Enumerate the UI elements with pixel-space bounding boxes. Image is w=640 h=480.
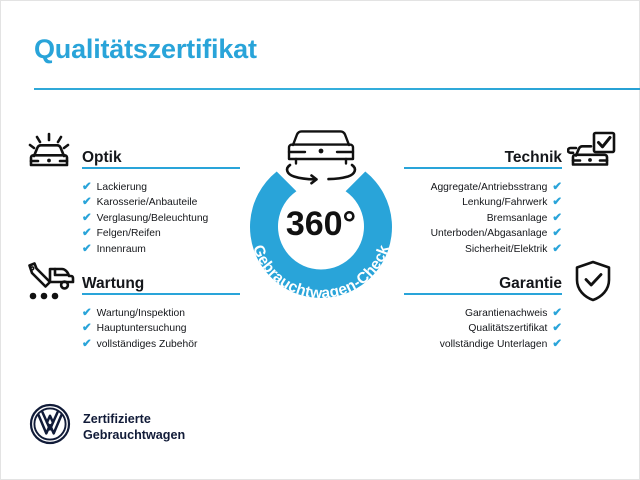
car-checkbox-icon: [567, 131, 617, 178]
section-header-wartung: Wartung: [82, 269, 240, 295]
list-item-label: Bremsanlage: [487, 211, 548, 226]
list-item-label: Lackierung: [97, 180, 147, 195]
list-item: ✔Felgen/Reifen: [82, 226, 240, 241]
footer-text: Zertifizierte Gebrauchtwagen: [83, 411, 185, 443]
list-item-label: Qualitätszertifikat: [468, 321, 547, 336]
page-title: Qualitätszertifikat: [34, 34, 257, 65]
shield-check-icon: [573, 259, 613, 308]
list-item-label: Innenraum: [97, 242, 146, 257]
check-icon: ✔: [552, 228, 562, 240]
list-item: ✔vollständiges Zubehör: [82, 337, 240, 352]
section-divider-garantie: [404, 293, 562, 295]
footer-brand: Zertifizierte Gebrauchtwagen: [29, 403, 185, 450]
list-item-label: Wartung/Inspektion: [97, 306, 185, 321]
section-header-garantie: Garantie: [404, 269, 562, 295]
vw-logo-icon: [29, 403, 71, 450]
check-icon: ✔: [82, 213, 92, 225]
section-garantie: Garantie Garantienachweis✔ Qualitätszert…: [404, 269, 562, 368]
car-wrench-icon: [23, 259, 75, 310]
checklist-optik: ✔Lackierung ✔Karosserie/Anbauteile ✔Verg…: [82, 180, 240, 257]
section-divider-technik: [404, 167, 562, 169]
list-item-label: Lenkung/Fahrwerk: [462, 195, 547, 210]
list-item-label: Felgen/Reifen: [97, 226, 161, 241]
section-title-optik: Optik: [82, 149, 122, 167]
check-icon: ✔: [82, 182, 92, 194]
list-item: ✔Innenraum: [82, 242, 240, 257]
list-item-label: Aggregate/Antriebsstrang: [431, 180, 548, 195]
check-icon: ✔: [82, 244, 92, 256]
list-item: ✔Karosserie/Anbauteile: [82, 195, 240, 210]
checklist-wartung: ✔Wartung/Inspektion ✔Hauptuntersuchung ✔…: [82, 306, 240, 352]
list-item: ✔Verglasung/Beleuchtung: [82, 211, 240, 226]
list-item: Bremsanlage✔: [404, 211, 562, 226]
section-wartung: Wartung ✔Wartung/Inspektion ✔Hauptunters…: [82, 269, 240, 368]
badge-360: Gebrauchtwagen-Check 360°: [233, 119, 409, 315]
check-icon: ✔: [82, 228, 92, 240]
check-icon: ✔: [82, 308, 92, 320]
section-title-garantie: Garantie: [499, 275, 562, 293]
list-item: vollständige Unterlagen✔: [404, 337, 562, 352]
list-item-label: vollständiges Zubehör: [97, 337, 198, 352]
list-item: ✔Lackierung: [82, 180, 240, 195]
section-technik: Technik Aggregate/Antriebsstrang✔ Lenkun…: [404, 143, 562, 273]
check-icon: ✔: [552, 323, 562, 335]
list-item-label: Verglasung/Beleuchtung: [97, 211, 209, 226]
list-item-label: vollständige Unterlagen: [440, 337, 548, 352]
section-divider-wartung: [82, 293, 240, 295]
check-icon: ✔: [82, 197, 92, 209]
checklist-garantie: Garantienachweis✔ Qualitätszertifikat✔ v…: [404, 306, 562, 352]
check-icon: ✔: [552, 308, 562, 320]
list-item: ✔Hauptuntersuchung: [82, 321, 240, 336]
list-item-label: Sicherheit/Elektrik: [465, 242, 547, 257]
check-icon: ✔: [552, 339, 562, 351]
section-title-wartung: Wartung: [82, 275, 144, 293]
check-icon: ✔: [552, 213, 562, 225]
list-item: Unterboden/Abgasanlage✔: [404, 226, 562, 241]
car-shine-icon: [25, 131, 73, 178]
list-item: Lenkung/Fahrwerk✔: [404, 195, 562, 210]
list-item: Garantienachweis✔: [404, 306, 562, 321]
check-icon: ✔: [552, 197, 562, 209]
list-item: Sicherheit/Elektrik✔: [404, 242, 562, 257]
section-header-technik: Technik: [404, 143, 562, 169]
list-item: Aggregate/Antriebsstrang✔: [404, 180, 562, 195]
section-title-technik: Technik: [505, 149, 562, 167]
section-header-optik: Optik: [82, 143, 240, 169]
header-divider: [34, 88, 640, 90]
section-optik: Optik ✔Lackierung ✔Karosserie/Anbauteile…: [82, 143, 240, 273]
check-icon: ✔: [552, 244, 562, 256]
certificate-page: Qualitätszertifikat: [0, 0, 640, 480]
list-item: Qualitätszertifikat✔: [404, 321, 562, 336]
check-icon: ✔: [82, 339, 92, 351]
list-item-label: Karosserie/Anbauteile: [97, 195, 198, 210]
check-icon: ✔: [552, 182, 562, 194]
list-item-label: Unterboden/Abgasanlage: [431, 226, 548, 241]
section-divider-optik: [82, 167, 240, 169]
badge-center-label: 360°: [286, 205, 356, 243]
car-rotate-icon: [287, 131, 355, 183]
list-item-label: Garantienachweis: [465, 306, 547, 321]
checklist-technik: Aggregate/Antriebsstrang✔ Lenkung/Fahrwe…: [404, 180, 562, 257]
list-item-label: Hauptuntersuchung: [97, 321, 187, 336]
check-icon: ✔: [82, 323, 92, 335]
list-item: ✔Wartung/Inspektion: [82, 306, 240, 321]
